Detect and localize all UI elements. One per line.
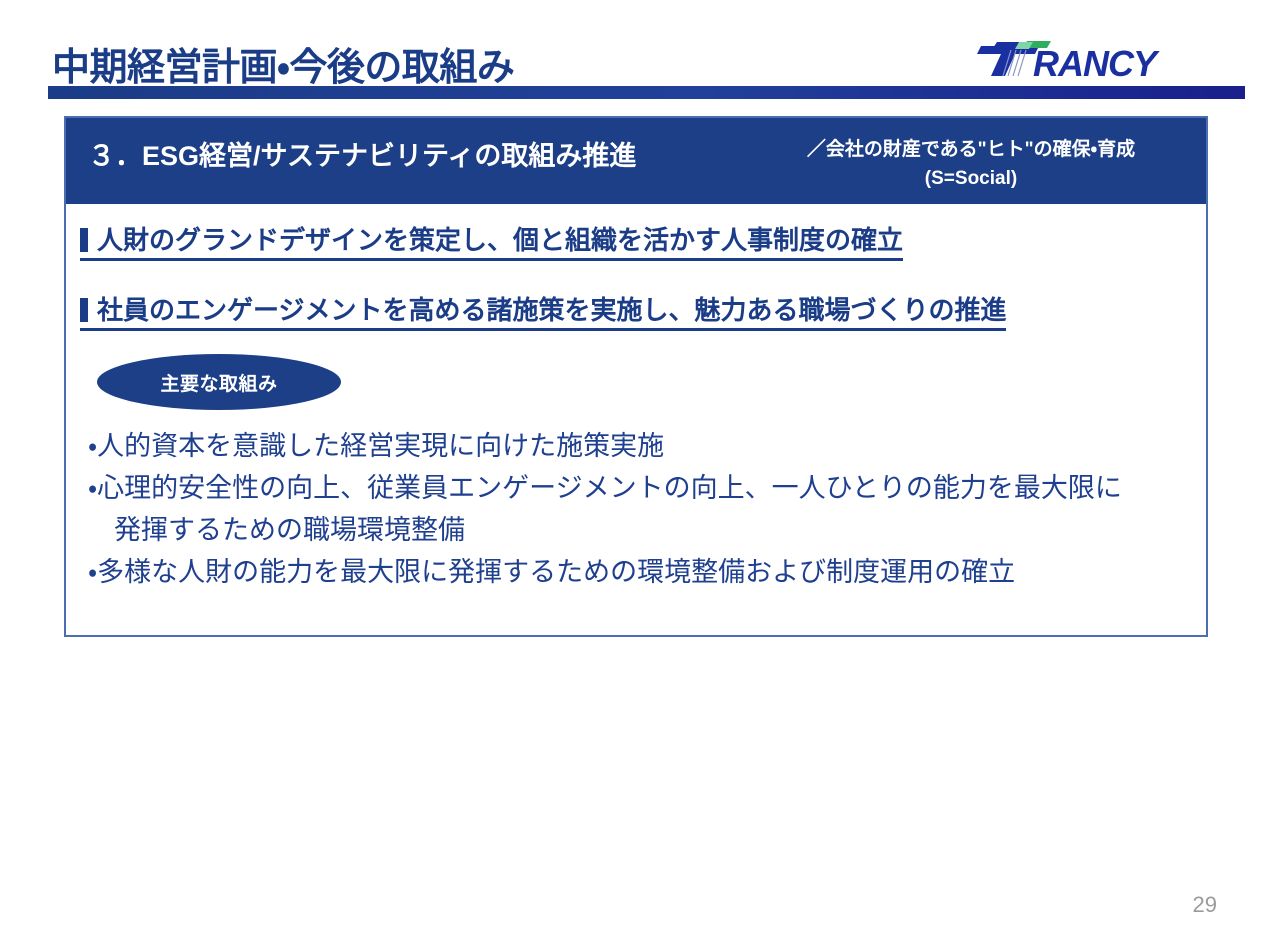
list-item: ・心理的安全性の向上、従業員エンゲージメントの向上、一人ひとりの能力を最大限に (88, 468, 1188, 510)
key-heading-2-label: 社員のエンゲージメントを高める諸施策を実施し、魅力ある職場づくりの推進 (97, 295, 1006, 325)
key-heading-2: 社員のエンゲージメントを高める諸施策を実施し、魅力ある職場づくりの推進 (80, 296, 1006, 331)
section-subtitle-line-1: ／会社の財産である"ヒト"の確保・育成 (807, 139, 1135, 160)
title-underline-bar (48, 86, 1245, 99)
slide-canvas: 中期経営計画・今後の取組み RANCY ３．ESG経営/サステナビリティの取組み (0, 0, 1280, 947)
list-item-continuation: 発揮するための職場環境整備 (88, 510, 1188, 552)
list-item: ・多様な人財の能力を最大限に発揮するための環境整備および制度運用の確立 (88, 552, 1188, 594)
bar-marker-icon (80, 298, 88, 322)
initiatives-list: ・人的資本を意識した経営実現に向けた施策実施 ・心理的安全性の向上、従業員エンゲ… (88, 426, 1188, 593)
list-item: ・人的資本を意識した経営実現に向けた施策実施 (88, 426, 1188, 468)
bar-marker-icon (80, 228, 88, 252)
content-box: ３．ESG経営/サステナビリティの取組み推進 ／会社の財産である"ヒト"の確保・… (64, 116, 1208, 637)
section-subtitle-line-2: (S=Social) (756, 165, 1186, 194)
key-heading-1: 人財のグランドデザインを策定し、個と組織を活かす人事制度の確立 (80, 226, 903, 261)
main-initiatives-badge: 主要な取組み (97, 354, 341, 410)
trancy-logo: RANCY (975, 36, 1195, 86)
logo-wordmark: RANCY (1033, 43, 1160, 84)
section-header-bar: ３．ESG経営/サステナビリティの取組み推進 ／会社の財産である"ヒト"の確保・… (66, 118, 1206, 204)
main-initiatives-badge-label: 主要な取組み (160, 369, 277, 396)
key-heading-1-label: 人財のグランドデザインを策定し、個と組織を活かす人事制度の確立 (97, 225, 903, 255)
section-header-title: ３．ESG経営/サステナビリティの取組み推進 (88, 134, 636, 173)
section-header-subtitle: ／会社の財産である"ヒト"の確保・育成 (S=Social) (756, 136, 1186, 193)
page-number: 29 (0, 892, 1217, 918)
page-title: 中期経営計画・今後の取組み (52, 36, 514, 91)
